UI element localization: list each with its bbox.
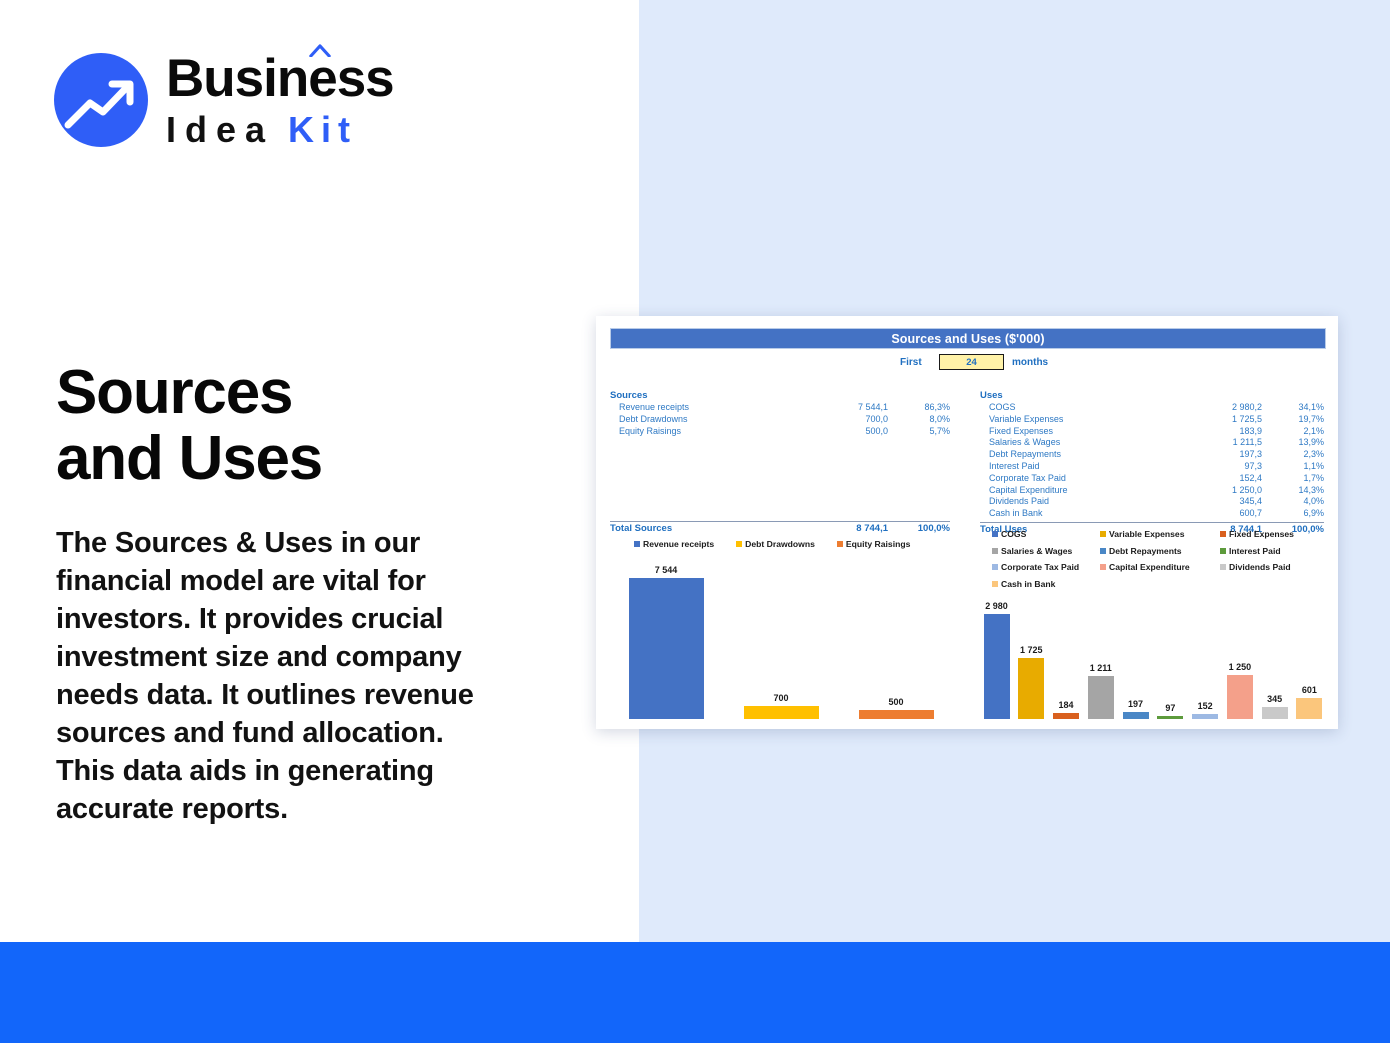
uses-bar-column: 1 725 <box>1015 559 1048 719</box>
uses-row: Dividends Paid345,44,0% <box>980 496 1324 508</box>
sources-total-row: Total Sources 8 744,1 100,0% <box>610 522 950 536</box>
uses-rows: COGS2 980,234,1%Variable Expenses1 725,5… <box>980 402 1324 520</box>
uses-row-label: Variable Expenses <box>980 414 1184 426</box>
brand-name-business: Business <box>166 52 394 105</box>
uses-bar-chart: 2 9801 7251841 211197971521 250345601 <box>980 559 1326 719</box>
uses-legend-label: Interest Paid <box>1229 546 1281 556</box>
uses-row-label: Debt Repayments <box>980 449 1184 461</box>
uses-legend-swatch-icon <box>1100 531 1106 537</box>
uses-row-pct: 1,1% <box>1262 461 1324 473</box>
uses-row-label: Salaries & Wages <box>980 437 1184 449</box>
uses-legend-swatch-icon <box>992 531 998 537</box>
uses-row-label: COGS <box>980 402 1184 414</box>
sources-row: Equity Raisings500,05,7% <box>610 426 950 438</box>
uses-row-pct: 2,3% <box>1262 449 1324 461</box>
uses-bar-value-label: 1 725 <box>1020 645 1043 655</box>
uses-bar-value-label: 601 <box>1302 685 1317 695</box>
page-title: Sourcesand Uses <box>56 360 576 494</box>
uses-bar <box>1296 698 1322 719</box>
uses-bar <box>984 614 1010 719</box>
uses-bar-column: 601 <box>1293 559 1326 719</box>
uses-bar-column: 2 980 <box>980 559 1013 719</box>
uses-row: Fixed Expenses183,92,1% <box>980 426 1324 438</box>
sources-spacer <box>610 437 950 519</box>
uses-legend-item[interactable]: Variable Expenses <box>1100 529 1216 539</box>
sources-legend-swatch-icon <box>634 541 640 547</box>
sources-row-label: Equity Raisings <box>610 426 810 438</box>
uses-bar-column: 197 <box>1119 559 1152 719</box>
brand-logo: Business Idea Kit <box>54 52 394 148</box>
spreadsheet-screenshot-card: Sources and Uses ($'000) First 24 months… <box>596 316 1338 729</box>
spreadsheet-title-banner: Sources and Uses ($'000) <box>610 328 1326 349</box>
uses-row-pct: 13,9% <box>1262 437 1324 449</box>
sources-legend-item[interactable]: Debt Drawdowns <box>736 539 815 549</box>
sources-bar-value-label: 500 <box>888 697 903 707</box>
sources-bar-column: 7 544 <box>616 559 716 719</box>
uses-legend-item[interactable]: Interest Paid <box>1220 546 1294 556</box>
sources-rows: Revenue receipts7 544,186,3%Debt Drawdow… <box>610 402 950 437</box>
sources-bar-chart: 7 544700500 <box>616 559 946 719</box>
sources-bar-column: 700 <box>731 559 831 719</box>
sources-row-value: 7 544,1 <box>810 402 888 414</box>
uses-bar-value-label: 1 250 <box>1229 662 1252 672</box>
sources-total-value: 8 744,1 <box>810 522 888 536</box>
sources-legend-swatch-icon <box>736 541 742 547</box>
uses-row: Debt Repayments197,32,3% <box>980 449 1324 461</box>
uses-bar-column: 1 250 <box>1223 559 1256 719</box>
uses-bar-value-label: 1 211 <box>1090 663 1112 673</box>
uses-row-label: Capital Expenditure <box>980 485 1184 497</box>
uses-row-pct: 14,3% <box>1262 485 1324 497</box>
sources-row-pct: 86,3% <box>888 402 950 414</box>
uses-row-value: 600,7 <box>1184 508 1262 520</box>
uses-bar-value-label: 97 <box>1165 703 1175 713</box>
sources-total-pct: 100,0% <box>888 522 950 536</box>
sources-bar-value-label: 7 544 <box>655 565 678 575</box>
uses-row-value: 183,9 <box>1184 426 1262 438</box>
sources-row-label: Revenue receipts <box>610 402 810 414</box>
uses-bar <box>1123 712 1149 719</box>
slide-canvas: Business Idea Kit Sourcesand Uses The So… <box>0 0 1390 1043</box>
uses-row-value: 2 980,2 <box>1184 402 1262 414</box>
sources-row-label: Debt Drawdowns <box>610 414 810 426</box>
trending-up-arrow-icon <box>54 53 148 147</box>
brand-wordmark: Business Idea Kit <box>166 52 394 148</box>
uses-legend-item[interactable]: COGS <box>992 529 1096 539</box>
uses-row-pct: 6,9% <box>1262 508 1324 520</box>
sources-bar-column: 500 <box>846 559 946 719</box>
uses-row-value: 345,4 <box>1184 496 1262 508</box>
uses-row: COGS2 980,234,1% <box>980 402 1324 414</box>
uses-row-label: Fixed Expenses <box>980 426 1184 438</box>
brand-name-idea: Idea <box>166 112 274 148</box>
sources-legend-label: Equity Raisings <box>846 539 910 549</box>
uses-bar <box>1262 707 1288 719</box>
uses-legend-item[interactable]: Debt Repayments <box>1100 546 1216 556</box>
uses-row-label: Dividends Paid <box>980 496 1184 508</box>
uses-row-value: 1 211,5 <box>1184 437 1262 449</box>
uses-bar-column: 1 211 <box>1084 559 1117 719</box>
period-months-input[interactable]: 24 <box>939 354 1004 370</box>
sources-legend-label: Debt Drawdowns <box>745 539 815 549</box>
uses-legend-item[interactable]: Salaries & Wages <box>992 546 1096 556</box>
uses-bar-column: 345 <box>1258 559 1291 719</box>
uses-row-pct: 2,1% <box>1262 426 1324 438</box>
uses-row: Interest Paid97,31,1% <box>980 461 1324 473</box>
period-selector-row: First 24 months <box>610 354 1324 370</box>
uses-bar <box>1192 714 1218 719</box>
bottom-accent-bar <box>0 942 1390 1043</box>
uses-legend-label: Salaries & Wages <box>1001 546 1072 556</box>
uses-row-value: 97,3 <box>1184 461 1262 473</box>
uses-row-label: Interest Paid <box>980 461 1184 473</box>
sources-row: Debt Drawdowns700,08,0% <box>610 414 950 426</box>
uses-row: Capital Expenditure1 250,014,3% <box>980 485 1324 497</box>
sources-header: Sources <box>610 390 950 401</box>
period-suffix-label: months <box>1012 357 1048 368</box>
uses-legend-item[interactable]: Fixed Expenses <box>1220 529 1294 539</box>
uses-bar-value-label: 197 <box>1128 699 1143 709</box>
sources-chart-legend: Revenue receiptsDebt DrawdownsEquity Rai… <box>634 539 910 549</box>
uses-legend-swatch-icon <box>1220 531 1226 537</box>
uses-bar-value-label: 184 <box>1059 700 1074 710</box>
sources-row-value: 500,0 <box>810 426 888 438</box>
uses-row-label: Corporate Tax Paid <box>980 473 1184 485</box>
sources-bar <box>629 578 704 719</box>
sources-row-value: 700,0 <box>810 414 888 426</box>
sources-legend-swatch-icon <box>837 541 843 547</box>
uses-legend-label: Debt Repayments <box>1109 546 1182 556</box>
sources-bars: 7 544700500 <box>616 559 946 719</box>
uses-row: Cash in Bank600,76,9% <box>980 508 1324 520</box>
uses-legend-swatch-icon <box>1220 548 1226 554</box>
sources-row: Revenue receipts7 544,186,3% <box>610 402 950 414</box>
uses-legend-label: Variable Expenses <box>1109 529 1184 539</box>
uses-header: Uses <box>980 390 1324 401</box>
period-prefix-label: First <box>900 357 922 368</box>
uses-row: Corporate Tax Paid152,41,7% <box>980 473 1324 485</box>
sources-total-label: Total Sources <box>610 522 810 536</box>
uses-row-value: 1 725,5 <box>1184 414 1262 426</box>
sources-row-pct: 5,7% <box>888 426 950 438</box>
sources-legend-item[interactable]: Equity Raisings <box>837 539 910 549</box>
uses-legend-swatch-icon <box>1100 548 1106 554</box>
sources-bar <box>744 706 819 719</box>
uses-bar-column: 184 <box>1050 559 1083 719</box>
uses-bar-value-label: 2 980 <box>985 601 1008 611</box>
uses-legend-label: COGS <box>1001 529 1026 539</box>
uses-row-value: 1 250,0 <box>1184 485 1262 497</box>
sources-bar <box>859 710 934 719</box>
uses-legend-label: Fixed Expenses <box>1229 529 1294 539</box>
uses-bar-column: 97 <box>1154 559 1187 719</box>
uses-bar <box>1227 675 1253 719</box>
uses-bar <box>1018 658 1044 719</box>
uses-legend-swatch-icon <box>992 548 998 554</box>
uses-row-value: 152,4 <box>1184 473 1262 485</box>
uses-table: Uses COGS2 980,234,1%Variable Expenses1 … <box>980 390 1324 537</box>
uses-bar-column: 152 <box>1189 559 1222 719</box>
uses-row-pct: 4,0% <box>1262 496 1324 508</box>
uses-row-pct: 34,1% <box>1262 402 1324 414</box>
circumflex-accent-icon <box>309 44 331 57</box>
uses-row: Variable Expenses1 725,519,7% <box>980 414 1324 426</box>
uses-row: Salaries & Wages1 211,513,9% <box>980 437 1324 449</box>
body-paragraph: The Sources & Uses in our financial mode… <box>56 525 508 829</box>
uses-row-pct: 19,7% <box>1262 414 1324 426</box>
sources-legend-label: Revenue receipts <box>643 539 714 549</box>
sources-bar-value-label: 700 <box>773 693 788 703</box>
sources-row-pct: 8,0% <box>888 414 950 426</box>
uses-bar <box>1053 713 1079 719</box>
uses-row-value: 197,3 <box>1184 449 1262 461</box>
uses-bar-value-label: 345 <box>1267 694 1282 704</box>
sources-legend-item[interactable]: Revenue receipts <box>634 539 714 549</box>
uses-row-pct: 1,7% <box>1262 473 1324 485</box>
uses-bars: 2 9801 7251841 211197971521 250345601 <box>980 559 1326 719</box>
uses-row-label: Cash in Bank <box>980 508 1184 520</box>
sources-table: Sources Revenue receipts7 544,186,3%Debt… <box>610 390 950 536</box>
uses-bar-value-label: 152 <box>1198 701 1213 711</box>
uses-bar <box>1157 716 1183 719</box>
brand-name-kit: Kit <box>288 112 357 148</box>
uses-bar <box>1088 676 1114 719</box>
